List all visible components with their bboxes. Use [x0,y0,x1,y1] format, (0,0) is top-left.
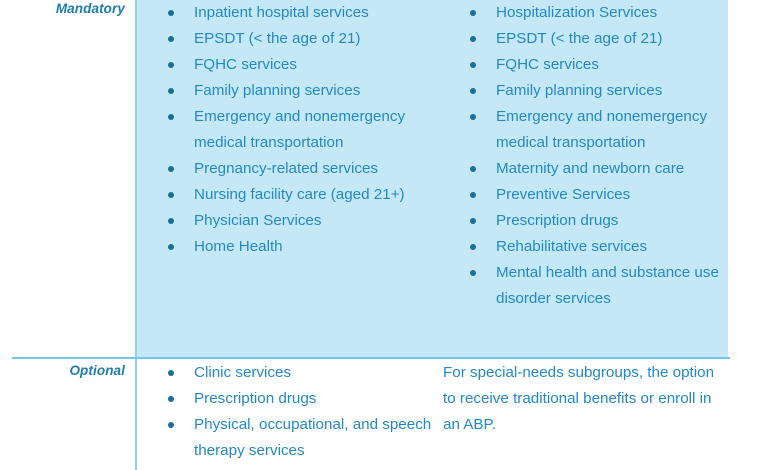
clipped-list-item-bottom [163,464,494,470]
benefits-comparison-table: Mandatory Inpatient hospital services EP… [0,0,780,470]
list-item: Emergency and nonemergency medical trans… [163,104,433,156]
list-item: Prescription drugs [163,386,438,412]
mandatory-left-list: Inpatient hospital services EPSDT (< the… [163,0,433,260]
column-divider-rule [135,0,137,470]
list-item: Inpatient hospital services [163,0,433,26]
row-label-mandatory: Mandatory [0,1,125,16]
list-item: Mental health and substance use disorder… [465,260,730,312]
list-item: Emergency and nonemergency medical trans… [465,104,730,156]
list-item: FQHC services [465,52,730,78]
optional-right-column: For special-needs subgroups, the option … [443,360,728,438]
list-item: Clinic services [163,360,438,386]
list-item: Pregnancy-related services [163,156,433,182]
list-item: Home Health [163,234,433,260]
list-item: EPSDT (< the age of 21) [465,26,730,52]
row-divider-rule [12,357,730,359]
list-item: Maternity and newborn care [465,156,730,182]
list-item: Hospitalization Services [465,0,730,26]
mandatory-left-column: Inpatient hospital services EPSDT (< the… [163,0,433,260]
list-item: Prescription drugs [465,208,730,234]
list-item: Family planning services [465,78,730,104]
list-item: FQHC services [163,52,433,78]
optional-left-column: Clinic services Prescription drugs Physi… [163,360,438,464]
list-item: Nursing facility care (aged 21+) [163,182,433,208]
mandatory-right-column: Hospitalization Services EPSDT (< the ag… [465,0,730,312]
list-item: Family planning services [163,78,433,104]
list-item: Physician Services [163,208,433,234]
list-item: Rehabilitative services [465,234,730,260]
optional-right-paragraph: For special-needs subgroups, the option … [443,360,728,438]
row-label-optional: Optional [0,363,125,378]
list-item: EPSDT (< the age of 21) [163,26,433,52]
mandatory-right-list: Hospitalization Services EPSDT (< the ag… [465,0,730,312]
optional-left-list: Clinic services Prescription drugs Physi… [163,360,438,464]
list-item: Physical, occupational, and speech thera… [163,412,438,464]
list-item: Preventive Services [465,182,730,208]
